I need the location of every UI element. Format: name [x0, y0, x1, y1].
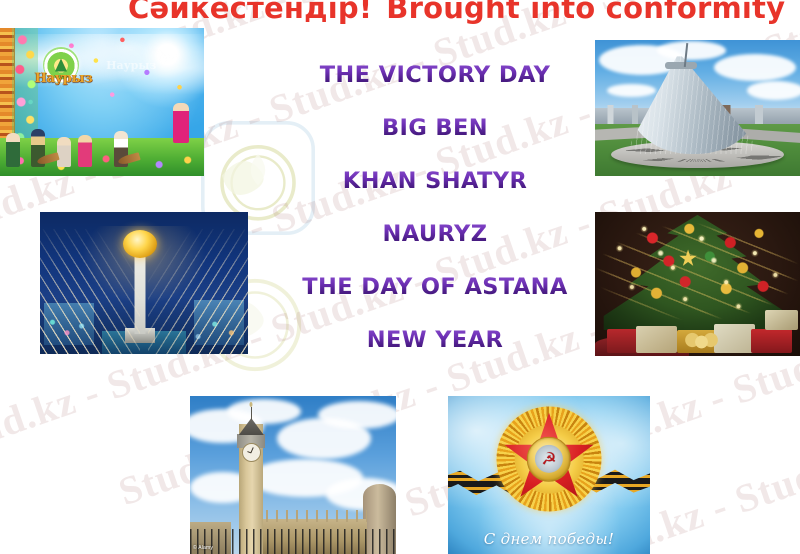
nauryz-blurb-text [106, 74, 184, 79]
cloud [714, 54, 796, 81]
victory-greeting-text: С днем победы! [448, 530, 650, 548]
bigben-fence [190, 529, 396, 554]
nauryz-figure [57, 137, 71, 167]
gift-box [751, 329, 792, 353]
page-title: Сәйкестендір!Brought into conformity [128, 0, 728, 25]
gift-bow-icon [685, 332, 718, 352]
image-credit: © Alamy [193, 545, 213, 551]
nauryz-logo-text: Наурыз [35, 71, 93, 86]
title-kazakh: Сәйкестендір! [128, 0, 372, 25]
image-baiterek-tower[interactable] [40, 212, 248, 354]
cloud [318, 401, 396, 429]
nauryz-ghost-text: Наурыз [106, 59, 156, 72]
baiterek-city-lights [40, 303, 248, 351]
gift-box [714, 324, 755, 353]
cloud [747, 81, 800, 100]
image-big-ben[interactable]: © Alamy [190, 396, 396, 554]
title-english: Brought into conformity [386, 0, 785, 25]
bigben-spire [251, 407, 252, 420]
nauryz-figure [78, 135, 92, 167]
word-item-victory-day[interactable]: THE VICTORY DAY [225, 62, 645, 88]
parliament-pinnacles [252, 510, 367, 523]
word-list: THE VICTORY DAY BIG BEN KHAN SHATYR NAUR… [225, 62, 645, 353]
gift-box [765, 310, 798, 330]
nauryz-figure [173, 103, 189, 143]
word-item-new-year[interactable]: NEW YEAR [225, 327, 645, 353]
word-item-khan-shatyr[interactable]: KHAN SHATYR [225, 168, 645, 194]
hammer-and-sickle-icon: ☭ [541, 451, 556, 468]
word-item-day-of-astana[interactable]: THE DAY OF ASTANA [225, 274, 645, 300]
image-victory-day-card[interactable]: ОТЕЧЕСТВЕННАЯ ВОЙНА ☭ С днем победы! [448, 396, 650, 554]
word-item-big-ben[interactable]: BIG BEN [225, 115, 645, 141]
slide-canvas: Stud.kz - Stud.kz - Stud.kz - Stud.kz - … [0, 0, 800, 554]
image-nauryz-poster[interactable]: Наурыз Наурыз [0, 28, 204, 176]
word-item-nauryz[interactable]: NAURYZ [225, 221, 645, 247]
watermark-text: Stud.kz - Stud.kz - Stud.kz - Stud.kz - … [0, 358, 800, 554]
khanshatyr-collar [665, 62, 698, 69]
nauryz-figure [6, 133, 20, 167]
bigben-clock-face [239, 447, 263, 460]
